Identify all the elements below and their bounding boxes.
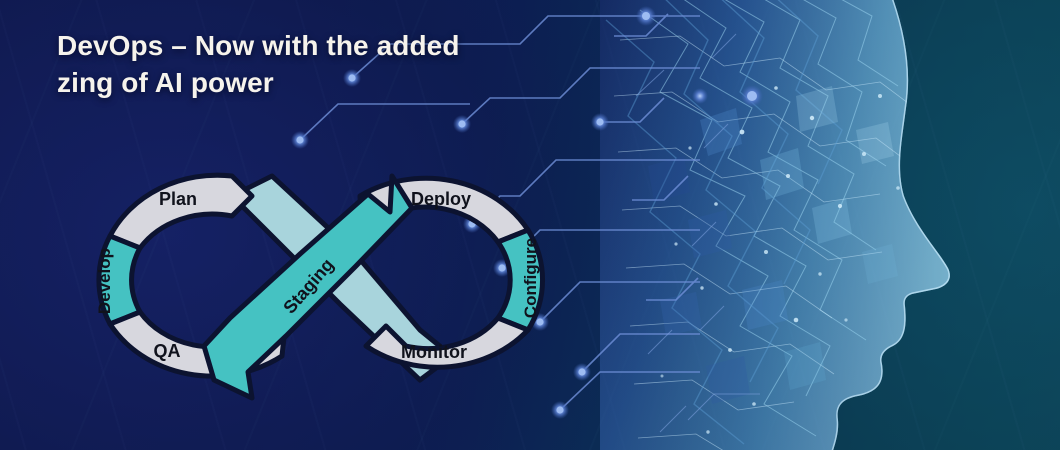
banner-headline: DevOps – Now with the added zing of AI p… — [57, 28, 527, 102]
headline-line-2: zing of AI power — [57, 65, 527, 102]
headline-line-1: DevOps – Now with the added — [57, 28, 527, 65]
label-monitor: Monitor — [401, 342, 467, 362]
label-qa: QA — [154, 341, 181, 361]
label-plan: Plan — [159, 189, 197, 209]
devops-ai-banner: Plan Develop QA Staging Deploy Configure… — [0, 0, 1060, 450]
label-develop: Develop — [95, 248, 114, 314]
segment-plan[interactable] — [110, 175, 252, 248]
label-configure: Configure — [521, 238, 540, 318]
label-deploy: Deploy — [411, 189, 471, 209]
